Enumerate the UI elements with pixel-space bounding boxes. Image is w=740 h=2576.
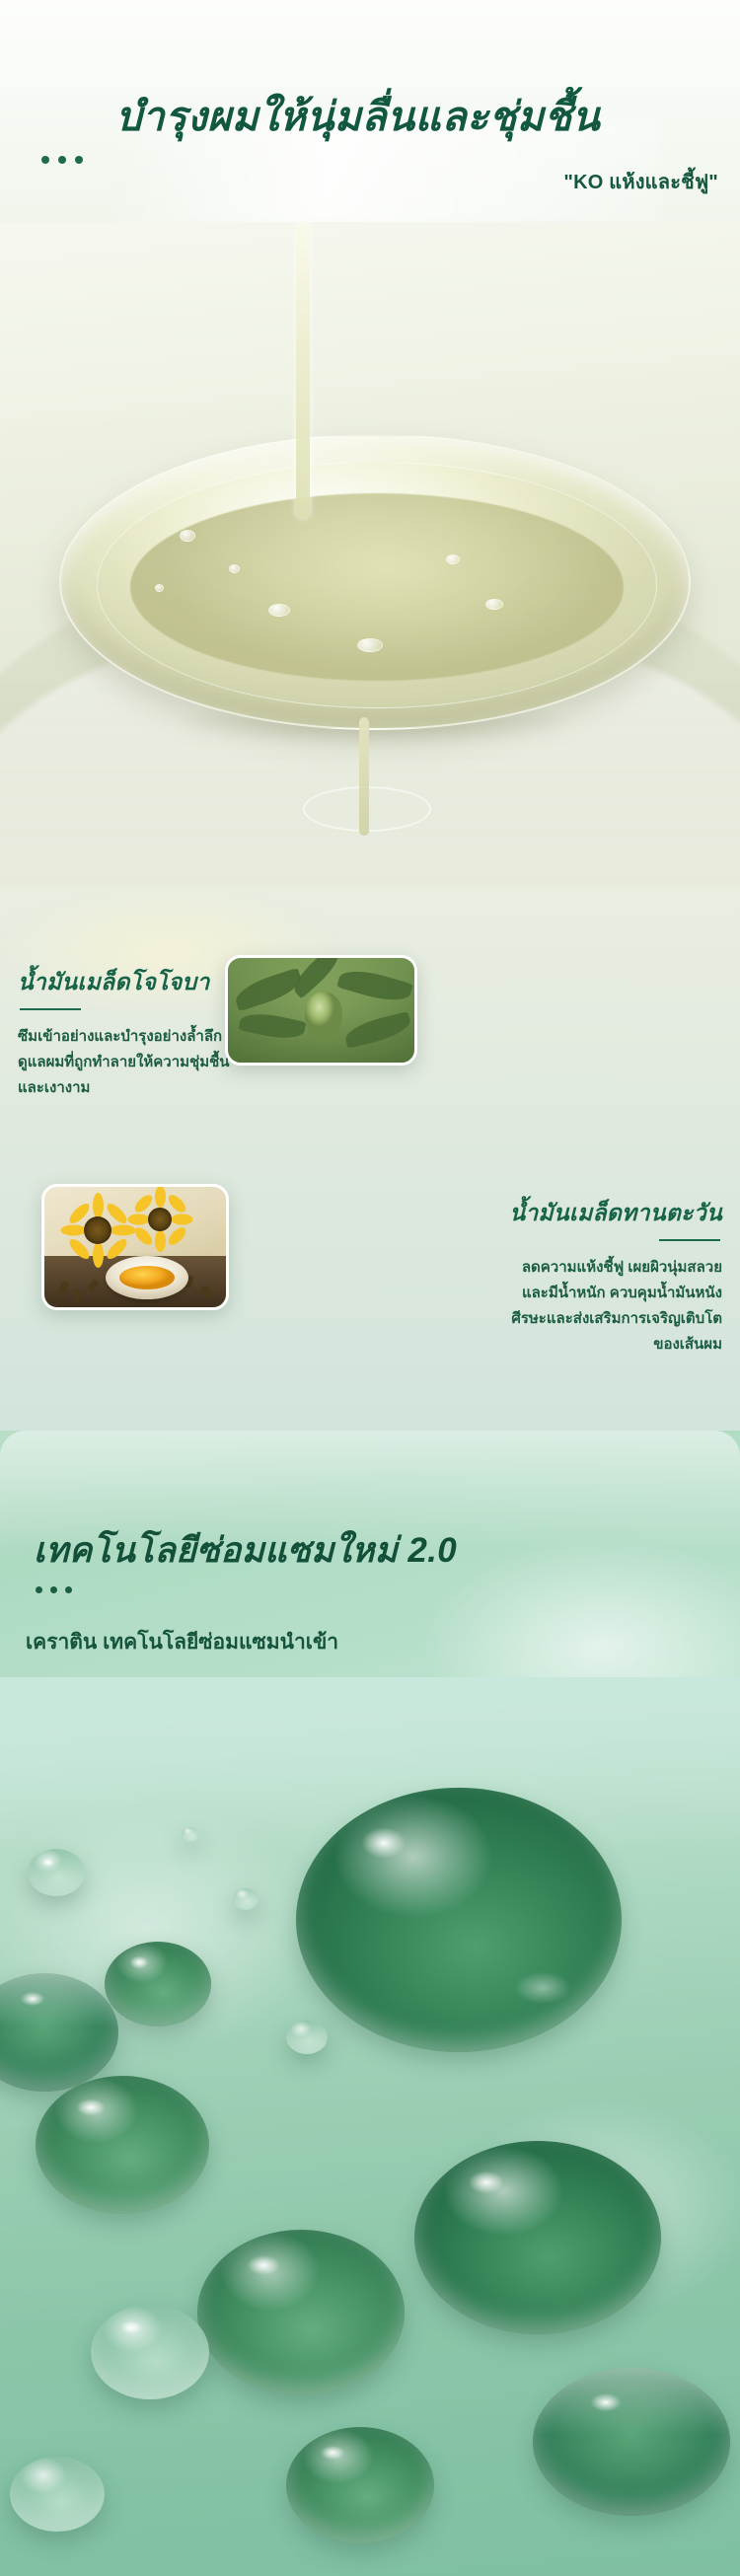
petri-dish-photo bbox=[0, 222, 740, 888]
ingredient-photo-jojoba bbox=[225, 955, 417, 1066]
water-droplet-small bbox=[91, 2305, 209, 2399]
dot-icon bbox=[41, 156, 49, 164]
technology-title: เทคโนโลยีซ่อมแซมใหม่ 2.0 bbox=[34, 1523, 457, 1578]
water-droplet-medium bbox=[105, 1942, 211, 2026]
water-droplet-medium bbox=[36, 2076, 209, 2214]
sunflower-shape bbox=[62, 1195, 133, 1266]
petri-dish-glass bbox=[59, 434, 691, 730]
water-droplet-small bbox=[10, 2457, 105, 2532]
oil-bowl-shape bbox=[106, 1256, 188, 1299]
ingredient-title-sunflower: น้ำมันเมล็ดทานตะวัน bbox=[509, 1196, 722, 1231]
dot-icon bbox=[36, 1586, 42, 1593]
water-droplet-large bbox=[414, 2141, 661, 2334]
oil-bubble bbox=[485, 599, 503, 610]
ingredient-photo-sunflower bbox=[41, 1184, 229, 1310]
droplets-photo-section bbox=[0, 1677, 740, 2576]
ingredients-section: น้ำมันเมล็ดโจโจบา ซึมเข้าอย่างและบำรุงอย… bbox=[0, 888, 740, 1500]
oil-bubble bbox=[155, 584, 164, 592]
ingredient-title-jojoba: น้ำมันเมล็ดโจโจบา bbox=[18, 965, 210, 1000]
oil-bubble bbox=[268, 604, 290, 617]
jojoba-seed-shape bbox=[305, 992, 342, 1043]
oil-bubble bbox=[180, 530, 195, 542]
oil-liquid-shape bbox=[119, 1266, 175, 1289]
oil-bubble bbox=[229, 564, 240, 573]
oil-stream-lower bbox=[359, 717, 369, 836]
technology-subtitle: เคราติน เทคโนโลยีซ่อมแซมนำเข้า bbox=[26, 1626, 338, 1658]
ingredient-divider-sunflower bbox=[659, 1239, 720, 1241]
dot-icon bbox=[75, 156, 83, 164]
three-dots-icon bbox=[36, 1586, 72, 1593]
petri-dish-oil-surface bbox=[130, 493, 624, 681]
oil-bubble bbox=[357, 638, 383, 652]
water-droplet-tiny bbox=[286, 2021, 328, 2054]
water-droplet-edge bbox=[533, 2368, 730, 2516]
ingredient-body-sunflower: ลดความแห้งชี้ฟู เผยผิวนุ่มสลวย และมีน้ำห… bbox=[511, 1255, 722, 1358]
hero-subtitle: "KO แห้งและชี้ฟู" bbox=[563, 166, 718, 197]
hero-section: บำรุงผมให้นุ่มลื่นและชุ่มชื้น "KO แห้งแล… bbox=[0, 0, 740, 888]
page-title: บำรุงผมให้นุ่มลื่นและชุ่มชื้น bbox=[0, 85, 740, 149]
dot-icon bbox=[65, 1586, 72, 1593]
oil-bubble bbox=[446, 554, 460, 564]
water-droplet-tiny bbox=[182, 1827, 199, 1842]
ingredient-body-jojoba: ซึมเข้าอย่างและบำรุงอย่างล้ำลึก ดูแลผมที… bbox=[18, 1024, 230, 1101]
dot-icon bbox=[50, 1586, 57, 1593]
product-detail-page: บำรุงผมให้นุ่มลื่นและชุ่มชื้น "KO แห้งแล… bbox=[0, 0, 740, 2576]
oil-stream-upper bbox=[296, 222, 310, 518]
water-droplet-large bbox=[296, 1788, 622, 2052]
sunflower-shape bbox=[129, 1189, 190, 1250]
water-droplet-medium bbox=[286, 2427, 434, 2543]
ingredient-divider-jojoba bbox=[20, 1008, 81, 1010]
water-droplet-tiny bbox=[233, 1888, 259, 1910]
three-dots-icon bbox=[41, 156, 83, 164]
dot-icon bbox=[58, 156, 66, 164]
water-droplet-medium bbox=[197, 2230, 405, 2395]
water-droplet-small bbox=[28, 1849, 85, 1896]
